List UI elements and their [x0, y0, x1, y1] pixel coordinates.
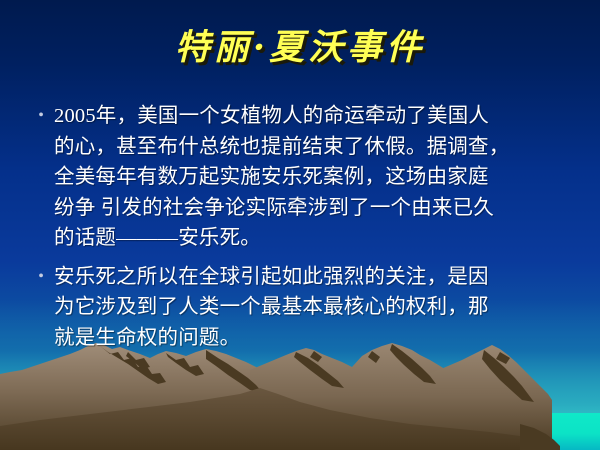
bullet-marker-icon: •	[28, 101, 54, 132]
bullet-line: 为它涉及到了人类一个最基本最核心的权利，那	[54, 292, 576, 323]
bullet-text-block: 安乐死之所以在全球引起如此强烈的关注，是因 为它涉及到了人类一个最基本最核心的权…	[54, 262, 576, 354]
bullet-text-block: 2005年，美国一个女植物人的命运牵动了美国人 的心，甚至布什总统也提前结束了休…	[54, 101, 576, 254]
bullet-line: 全美每年有数万起实施安乐死案例，这场由家庭	[54, 162, 576, 193]
bullet-item: • 安乐死之所以在全球引起如此强烈的关注，是因 为它涉及到了人类一个最基本最核心…	[28, 262, 576, 354]
bullet-line: 2005年，美国一个女植物人的命运牵动了美国人	[54, 101, 576, 132]
bullet-item: • 2005年，美国一个女植物人的命运牵动了美国人 的心，甚至布什总统也提前结束…	[28, 101, 576, 254]
bullet-line: 的心，甚至布什总统也提前结束了休假。据调查，	[54, 132, 576, 163]
presentation-slide: 特丽·夏沃事件 • 2005年，美国一个女植物人的命运牵动了美国人 的心，甚至布…	[0, 0, 600, 450]
slide-title: 特丽·夏沃事件	[0, 29, 600, 68]
bullet-line: 安乐死之所以在全球引起如此强烈的关注，是因	[54, 262, 576, 293]
bullet-line: 就是生命权的问题。	[54, 323, 576, 354]
bullet-marker-icon: •	[28, 262, 54, 293]
slide-body: • 2005年，美国一个女植物人的命运牵动了美国人 的心，甚至布什总统也提前结束…	[28, 101, 576, 353]
bullet-line: 的话题———安乐死。	[54, 223, 576, 254]
bullet-line: 纷争 引发的社会争论实际牵涉到了一个由来已久	[54, 193, 576, 224]
mountain-range-graphic	[0, 340, 600, 450]
